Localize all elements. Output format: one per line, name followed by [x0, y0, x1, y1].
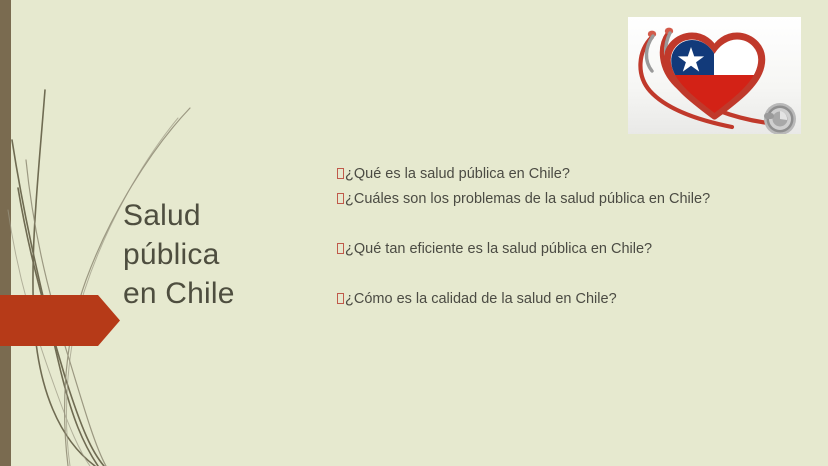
page-title: Salud pública en Chile: [123, 196, 313, 313]
list-item: ¿Qué es la salud pública en Chile?: [337, 162, 807, 187]
list-item: ¿Cómo es la calidad de la salud en Chile…: [337, 287, 807, 312]
bullet-list: ¿Qué es la salud pública en Chile? ¿Cuál…: [337, 162, 807, 312]
list-item: ¿Qué tan eficiente es la salud pública e…: [337, 237, 807, 262]
list-item-label: ¿Cómo es la calidad de la salud en Chile…: [345, 287, 617, 312]
missing-glyph-box-icon: [337, 168, 344, 179]
slide: Salud pública en Chile ¿Qué es la salud …: [0, 0, 828, 466]
missing-glyph-box-icon: [337, 193, 344, 204]
missing-glyph-box-icon: [337, 243, 344, 254]
list-item-label: ¿Qué tan eficiente es la salud pública e…: [345, 237, 652, 262]
stethoscope-chestpiece: [764, 103, 796, 134]
accent-arrow-shape: [0, 295, 120, 346]
list-item-label: ¿Qué es la salud pública en Chile?: [345, 162, 570, 187]
list-item: ¿Cuáles son los problemas de la salud pú…: [337, 187, 807, 212]
missing-glyph-box-icon: [337, 293, 344, 304]
stethoscope-heart-chile-flag-image: [628, 17, 801, 134]
list-item-label: ¿Cuáles son los problemas de la salud pú…: [345, 187, 710, 212]
left-accent-band: [0, 0, 11, 466]
